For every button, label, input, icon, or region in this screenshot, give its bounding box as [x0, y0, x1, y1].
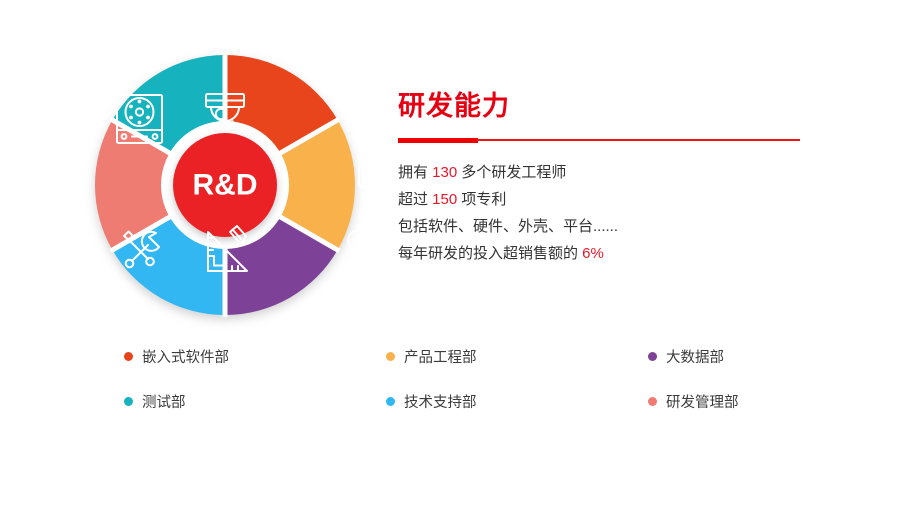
wheel-svg: R&D	[80, 42, 370, 307]
bullet-line: 包括软件、硬件、外壳、平台......	[398, 213, 818, 240]
bullet-list: 拥有 130 多个研发工程师 超过 150 项专利 包括软件、硬件、外壳、平台.…	[398, 159, 818, 267]
bullet-text-post: 多个研发工程师	[457, 164, 566, 181]
rd-capability-wheel: R&D	[80, 42, 370, 307]
legend-dot-icon	[124, 352, 133, 361]
legend-item-label: 产品工程部	[404, 346, 477, 367]
legend-dot-icon	[386, 397, 395, 406]
bullet-line: 超过 150 项专利	[398, 186, 818, 213]
legend-item-technical-support[interactable]: 技术支持部	[386, 391, 648, 412]
legend-item-big-data[interactable]: 大数据部	[648, 346, 824, 367]
legend-item-rd-management[interactable]: 研发管理部	[648, 391, 824, 412]
bullet-line: 每年研发的投入超销售额的 6%	[398, 240, 818, 267]
title-divider	[398, 138, 800, 143]
center-hub-label: R&D	[193, 169, 258, 202]
bullet-line: 拥有 130 多个研发工程师	[398, 159, 818, 186]
legend-item-product-engineering[interactable]: 产品工程部	[386, 346, 648, 367]
legend-item-label: 技术支持部	[404, 391, 477, 412]
legend-item-label: 测试部	[142, 391, 186, 412]
legend-item-embedded-software[interactable]: 嵌入式软件部	[124, 346, 386, 367]
cloud-sync-icon	[348, 220, 393, 250]
slide-canvas: R&D	[0, 0, 900, 506]
legend-item-testing[interactable]: 测试部	[124, 391, 386, 412]
cassette-tape-icon	[359, 158, 401, 187]
legend-item-label: 大数据部	[666, 346, 724, 367]
content-block: 研发能力 拥有 130 多个研发工程师 超过 150 项专利 包括软件、硬件、外…	[398, 92, 818, 267]
bullet-text-pre: 拥有	[398, 164, 432, 181]
bullet-highlight-number: 150	[432, 191, 457, 208]
bullet-text-pre: 每年研发的投入超销售额的	[398, 245, 582, 262]
legend: 嵌入式软件部 产品工程部 大数据部 测试部 技术支持部 研发管理部	[124, 334, 824, 424]
bullet-highlight-number: 6%	[582, 245, 604, 262]
legend-item-label: 研发管理部	[666, 391, 739, 412]
divider-thick-segment	[398, 138, 478, 143]
bullet-text-pre: 超过	[398, 191, 432, 208]
bullet-text-post: 项专利	[457, 191, 506, 208]
legend-dot-icon	[648, 352, 657, 361]
bullet-text-pre: 包括软件、硬件、外壳、平台......	[398, 218, 618, 235]
legend-item-label: 嵌入式软件部	[142, 346, 229, 367]
page-title: 研发能力	[398, 92, 818, 122]
legend-dot-icon	[386, 352, 395, 361]
bullet-highlight-number: 130	[432, 164, 457, 181]
legend-dot-icon	[648, 397, 657, 406]
legend-dot-icon	[124, 397, 133, 406]
divider-thin-segment	[476, 139, 800, 141]
